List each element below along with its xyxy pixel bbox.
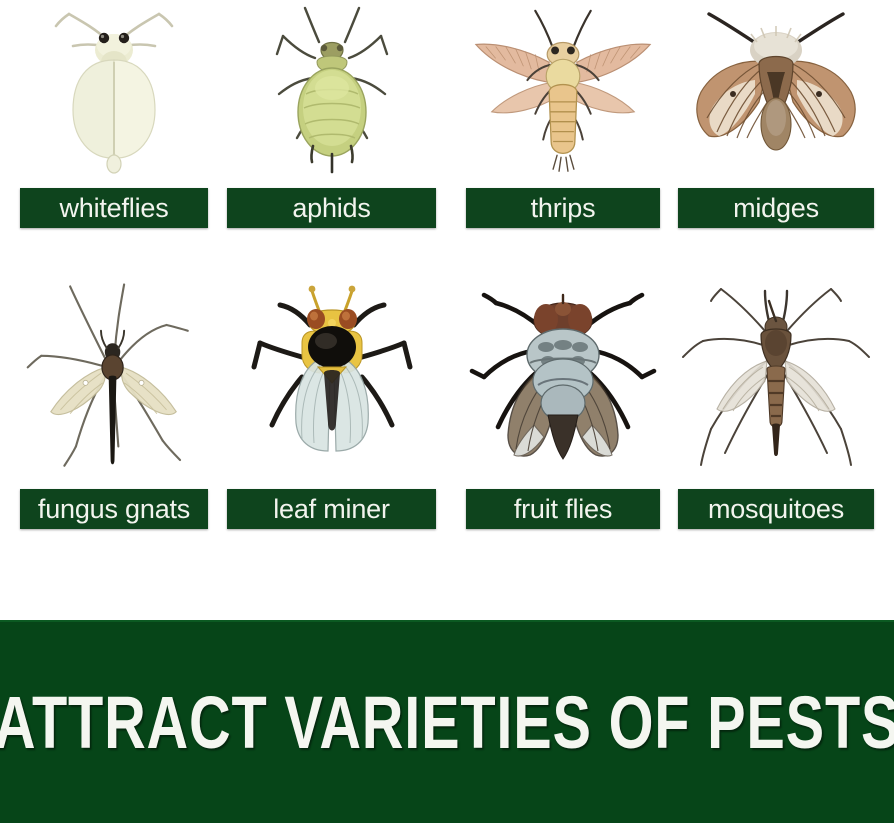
pest-cell-fruit-flies: fruit flies [448, 268, 678, 533]
pest-cell-leaf-miner: leaf miner [227, 268, 448, 533]
midge-illustration [678, 0, 874, 178]
pest-cell-thrips: thrips [448, 0, 678, 232]
pest-label-leaf-miner: leaf miner [227, 489, 436, 529]
aphid-illustration [227, 0, 436, 178]
headline-text: ATTRACT VARIETIES OF PESTS [0, 684, 894, 762]
fruit-fly-illustration [466, 268, 660, 483]
thrips-illustration [466, 0, 660, 178]
pest-cell-whiteflies: whiteflies [0, 0, 227, 232]
pest-cell-fungus-gnats: fungus gnats [0, 268, 227, 533]
pest-label-thrips: thrips [466, 188, 660, 228]
pest-row: fungus gnats [0, 268, 894, 533]
pest-poster: whiteflies [0, 0, 894, 821]
pest-label-fruit-flies: fruit flies [466, 489, 660, 529]
pest-label-aphids: aphids [227, 188, 436, 228]
pest-cell-mosquitoes: mosquitoes [678, 268, 894, 533]
fungus-gnat-illustration [20, 268, 208, 483]
pest-cell-midges: midges [678, 0, 894, 232]
headline-banner: ATTRACT VARIETIES OF PESTS [0, 620, 894, 823]
whitefly-illustration [20, 0, 208, 178]
pest-grid: whiteflies [0, 0, 894, 620]
pest-label-mosquitoes: mosquitoes [678, 489, 874, 529]
pest-label-midges: midges [678, 188, 874, 228]
pest-label-whiteflies: whiteflies [20, 188, 208, 228]
pest-cell-aphids: aphids [227, 0, 448, 232]
leaf-miner-illustration [227, 268, 436, 483]
mosquito-illustration [678, 268, 874, 483]
pest-row: whiteflies [0, 0, 894, 232]
pest-label-fungus-gnats: fungus gnats [20, 489, 208, 529]
